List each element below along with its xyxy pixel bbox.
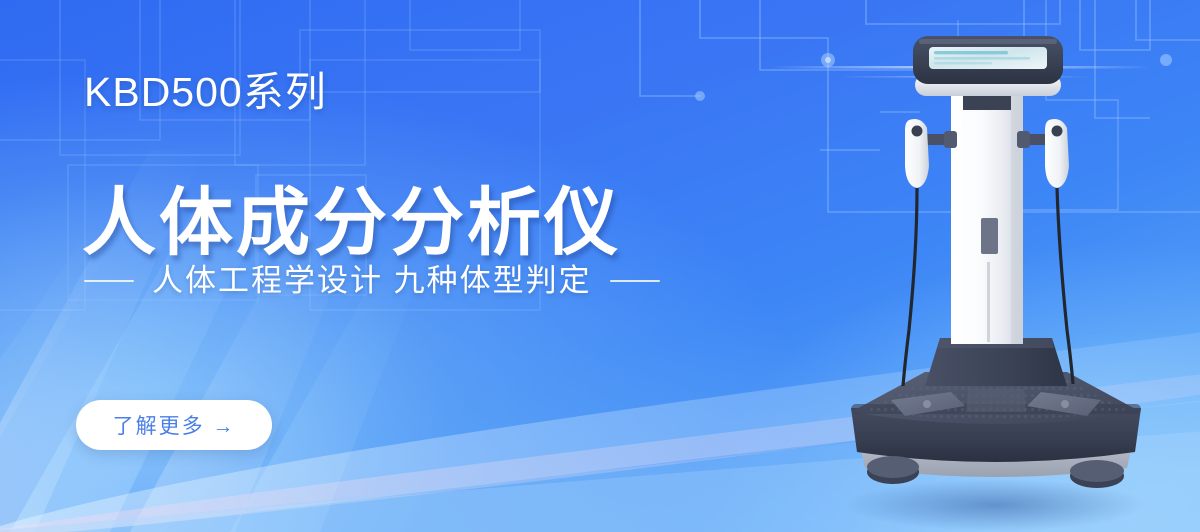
hero-subtitle: 人体工程学设计 九种体型判定 — [152, 265, 592, 296]
product-image-body-composition-analyzer: KBD500 . HUMAN BODY COMPOSITION ANALYZER — [805, 0, 1200, 532]
hero-content: KBD500系列 人体成分分析仪 人体工程学设计 九种体型判定 了解更多 → — [0, 0, 720, 532]
hero-subtitle-row: 人体工程学设计 九种体型判定 — [84, 265, 660, 296]
divider-line-left — [84, 280, 134, 282]
hero-eyebrow: KBD500系列 — [84, 72, 327, 113]
hero-banner: KBD500 . HUMAN BODY COMPOSITION ANALYZER — [0, 0, 1200, 532]
learn-more-button[interactable]: 了解更多 → — [76, 400, 272, 450]
divider-line-right — [610, 280, 660, 282]
page-title: 人体成分分析仪 — [82, 186, 621, 260]
